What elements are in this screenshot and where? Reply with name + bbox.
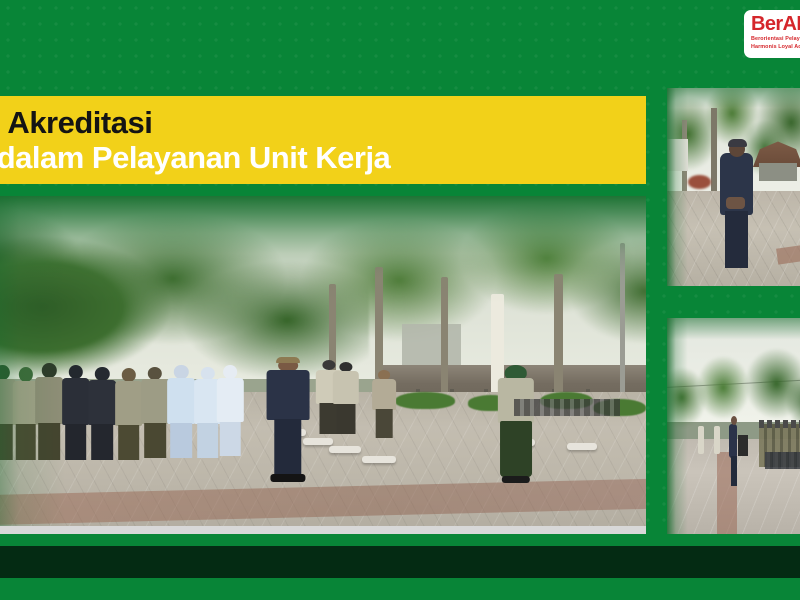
officer-standing (714, 426, 720, 454)
officer-back-legs (725, 211, 749, 268)
bottom-green-gap (0, 534, 800, 546)
parked-motorcycles (514, 399, 620, 416)
head (0, 365, 10, 380)
berakhlak-logo: BerAKHLAK Berorientasi Pelayanan Akuntab… (744, 10, 800, 58)
kerb-marker (567, 443, 597, 450)
utility-pole (620, 243, 625, 398)
legs (39, 423, 61, 460)
torso (88, 380, 116, 426)
torso (141, 379, 169, 424)
legs (220, 422, 241, 457)
building-white (667, 139, 688, 171)
legs (65, 424, 87, 460)
cap (276, 357, 300, 363)
officer-midground (333, 362, 359, 435)
legs (118, 425, 140, 460)
podium (738, 435, 748, 457)
legs (0, 424, 13, 460)
legs (197, 423, 219, 458)
head (174, 365, 188, 379)
staff-in-line (88, 367, 116, 460)
thumbnail-photo-1 (667, 88, 800, 286)
headline-line-2: nya ZI dalam Pelayanan Unit Kerja (0, 142, 646, 174)
ceremony-leader-head (731, 416, 737, 425)
staff-in-line (115, 368, 143, 459)
torso (62, 378, 90, 424)
staff-in-line (141, 367, 169, 458)
legs (91, 424, 113, 459)
head (18, 367, 32, 382)
logo-tagline-line-2: Harmonis Loyal Adaptif Kolaboratif (751, 44, 800, 52)
ceremony-leader (267, 357, 310, 482)
skirt (500, 421, 532, 478)
legs (336, 404, 355, 435)
head (223, 365, 237, 379)
head (95, 367, 109, 381)
ceremony-leader-torso (729, 424, 737, 459)
torso (217, 378, 243, 423)
kerb-marker (329, 446, 361, 453)
staff-in-line (36, 363, 64, 459)
ceremony-leader-legs (731, 456, 737, 486)
staff-in-line (217, 365, 243, 456)
bottom-green-band (0, 578, 800, 600)
torso (266, 370, 309, 420)
officer-standing (698, 426, 704, 454)
bottom-dark-band (0, 546, 800, 578)
formation-row-heads (759, 420, 800, 429)
torso (115, 381, 143, 426)
legs (274, 419, 301, 477)
kerb-marker (362, 456, 396, 463)
head (201, 367, 215, 381)
head (69, 365, 83, 379)
staff-in-line (62, 365, 90, 460)
hero-bottom-strip (0, 526, 646, 534)
legs (376, 409, 393, 437)
head (42, 363, 56, 377)
logo-brand-text: BerAKHLAK (751, 14, 800, 34)
torso (36, 377, 64, 424)
thumbnail-photo-2 (667, 318, 800, 534)
gazebo-base (759, 163, 797, 181)
legs (171, 423, 193, 458)
tree-trunk (711, 108, 717, 195)
poster-canvas: mbali Akreditasi nya ZI dalam Pelayanan … (0, 0, 800, 600)
shoes (270, 474, 305, 482)
headline-banner: mbali Akreditasi nya ZI dalam Pelayanan … (0, 96, 646, 184)
torso (372, 379, 396, 410)
torso (168, 378, 196, 424)
hero-photo-scene (0, 196, 646, 534)
officer-with-folder (372, 370, 396, 438)
head (148, 367, 162, 381)
shrub-red (688, 175, 712, 189)
logo-tagline-line-1: Berorientasi Pelayanan Akuntabel Kompete… (751, 36, 800, 44)
head (121, 368, 135, 382)
shoes (501, 476, 529, 483)
formation-row-back (765, 452, 800, 469)
hands-behind-back (726, 197, 745, 209)
officer-cap (728, 139, 747, 147)
legs (15, 424, 36, 459)
staff-in-line (168, 365, 196, 458)
staff-woman-right (498, 365, 534, 483)
legs (144, 423, 166, 458)
hero-photo (0, 196, 646, 534)
hedge (395, 392, 454, 409)
torso (332, 371, 358, 404)
headline-line-1: mbali Akreditasi (0, 107, 646, 139)
